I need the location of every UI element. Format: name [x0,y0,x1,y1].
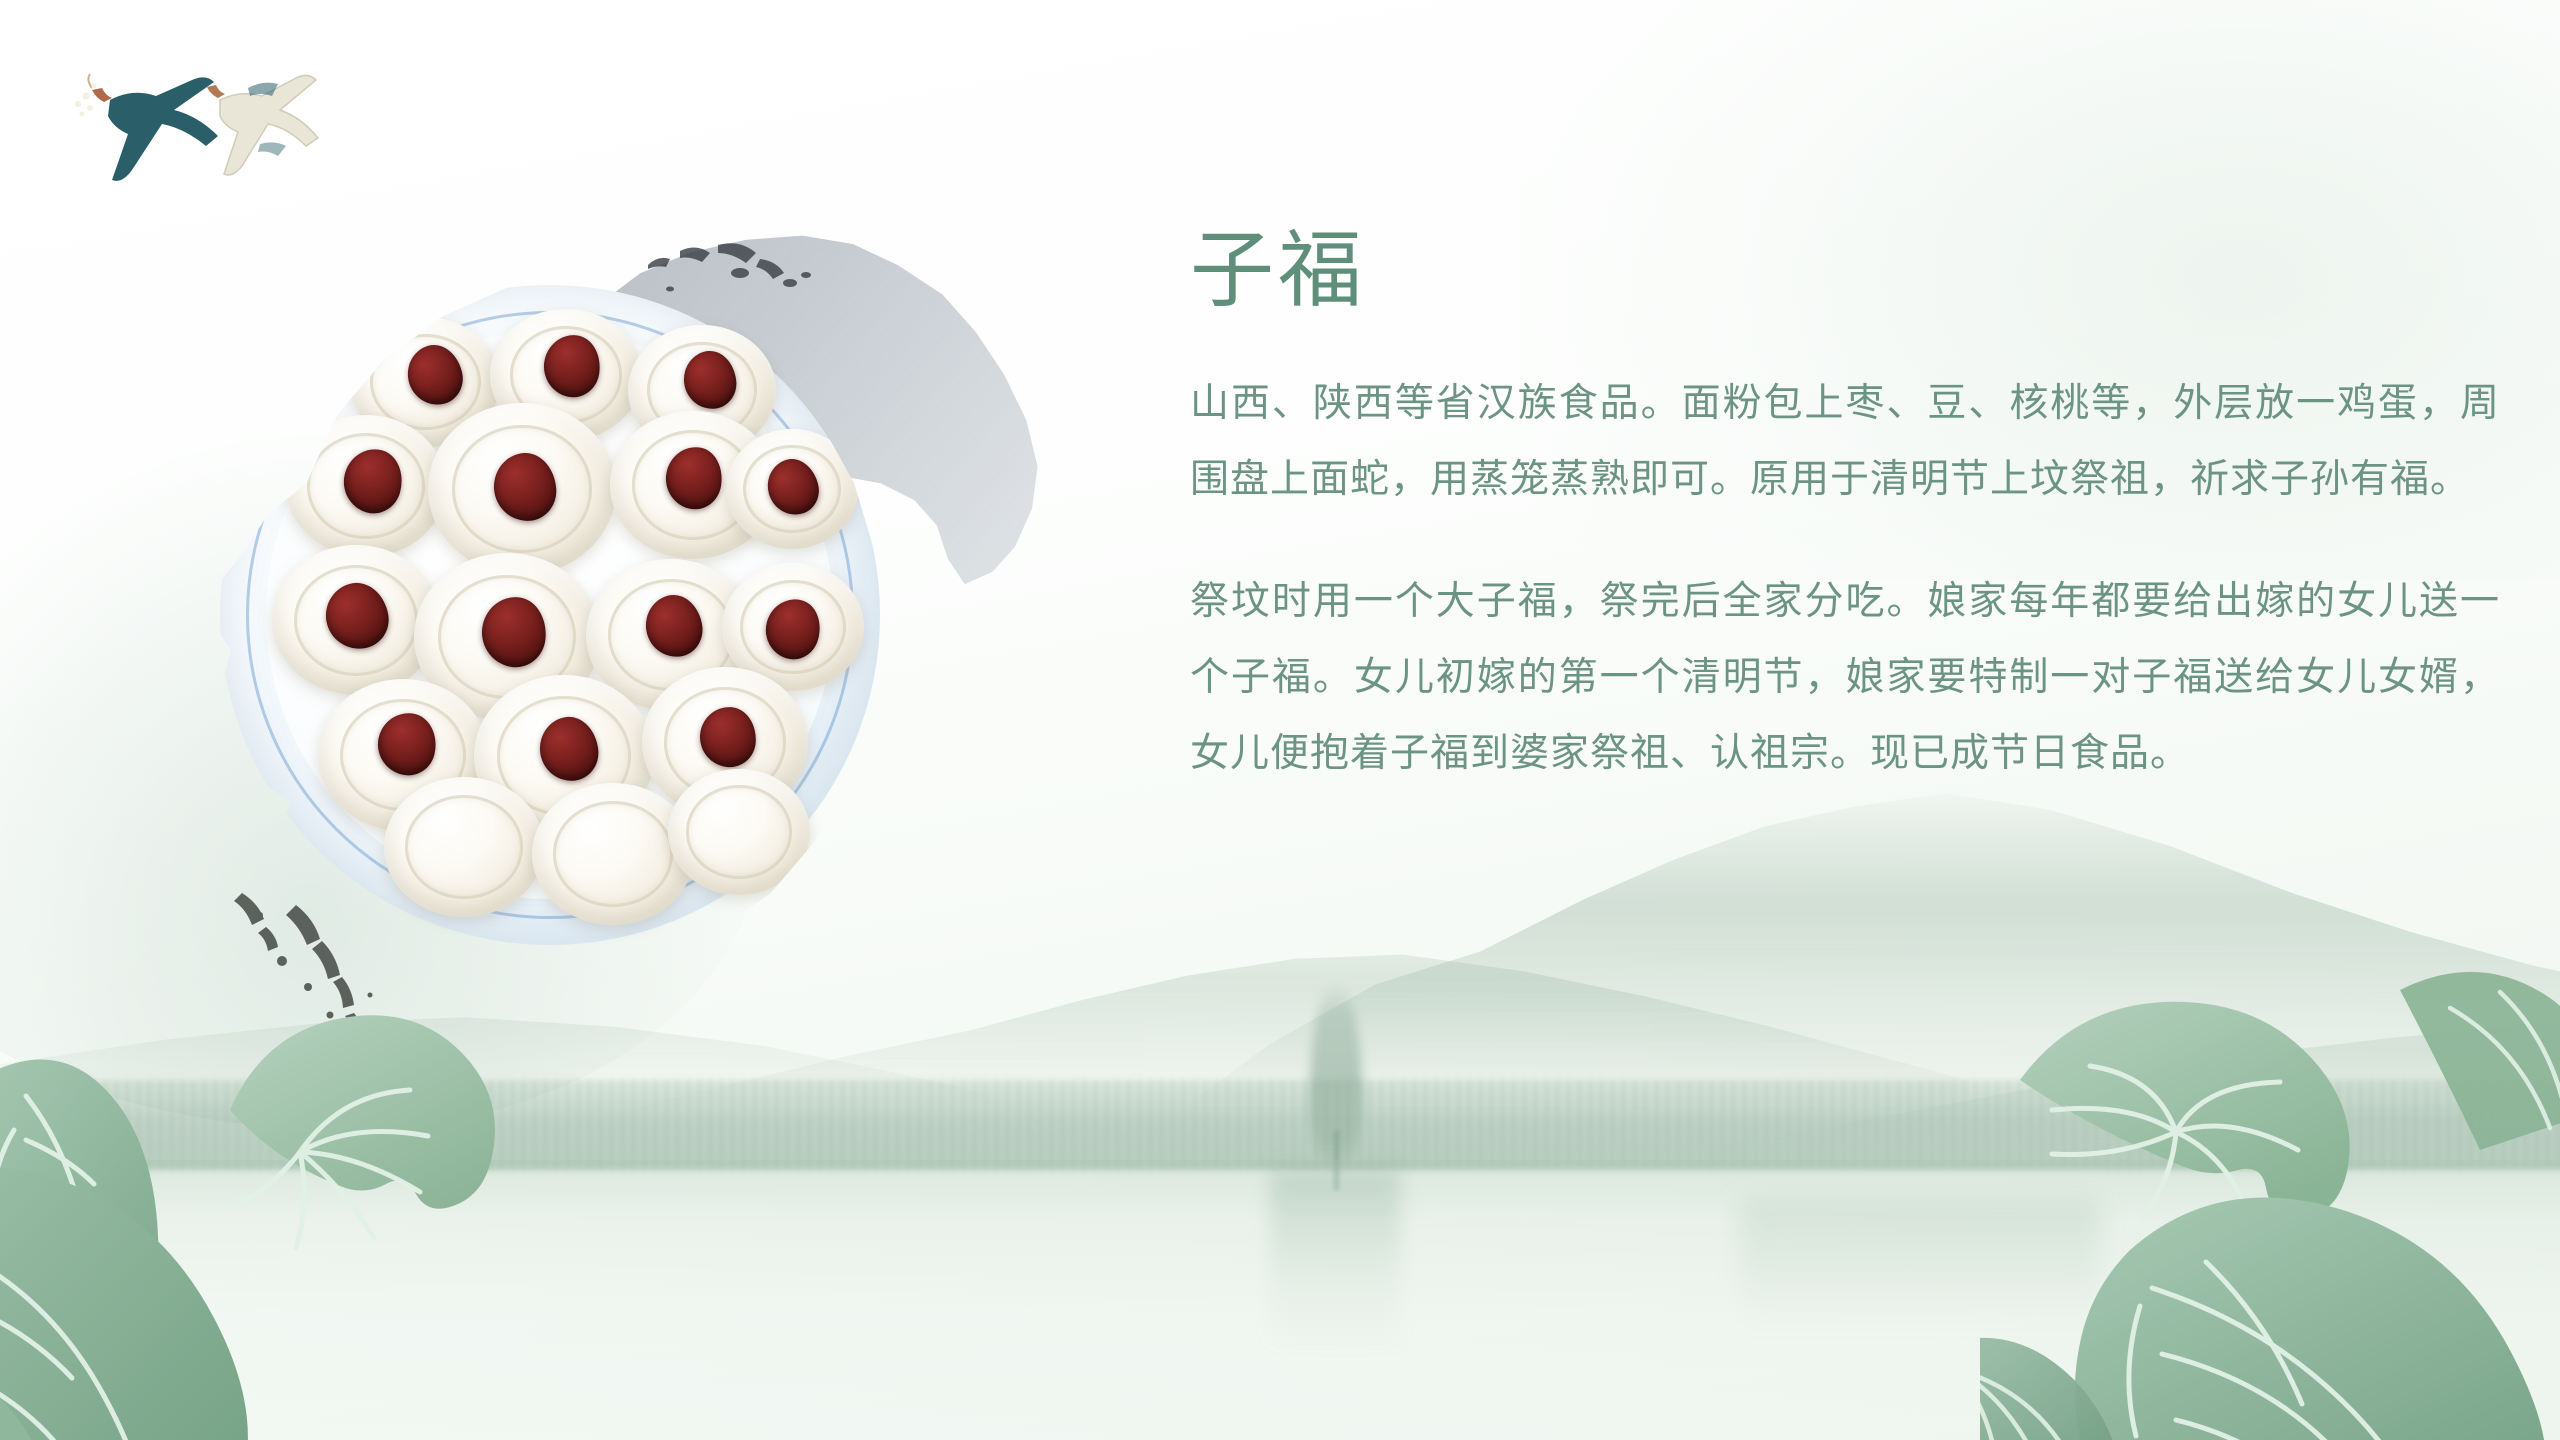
swallow-cream-icon [207,75,318,175]
slide-canvas: 子福 山西、陕西等省汉族食品。面粉包上枣、豆、核桃等，外层放一鸡蛋，周围盘上面蛇… [0,0,2560,1440]
swallow-birds-group [52,52,322,202]
tree-line-band [0,1080,2560,1170]
steamed-bun-stack [232,307,868,927]
text-column: 子福 山西、陕西等省汉族食品。面粉包上枣、豆、核桃等，外层放一鸡蛋，周围盘上面蛇… [1190,228,2500,792]
food-photo-group [170,195,1070,1075]
swallow-teal-icon [75,74,218,181]
page-title: 子福 [1190,228,2500,312]
description-paragraph-2: 祭坟时用一个大子福，祭完后全家分吃。娘家每年都要给出嫁的女儿送一个子福。女儿初嫁… [1190,564,2500,792]
description-paragraph-1: 山西、陕西等省汉族食品。面粉包上枣、豆、核桃等，外层放一鸡蛋，周围盘上面蛇，用蒸… [1190,366,2500,518]
water-reflection-tree [1270,1170,1400,1350]
water-reflection-hill [1740,1200,2100,1330]
